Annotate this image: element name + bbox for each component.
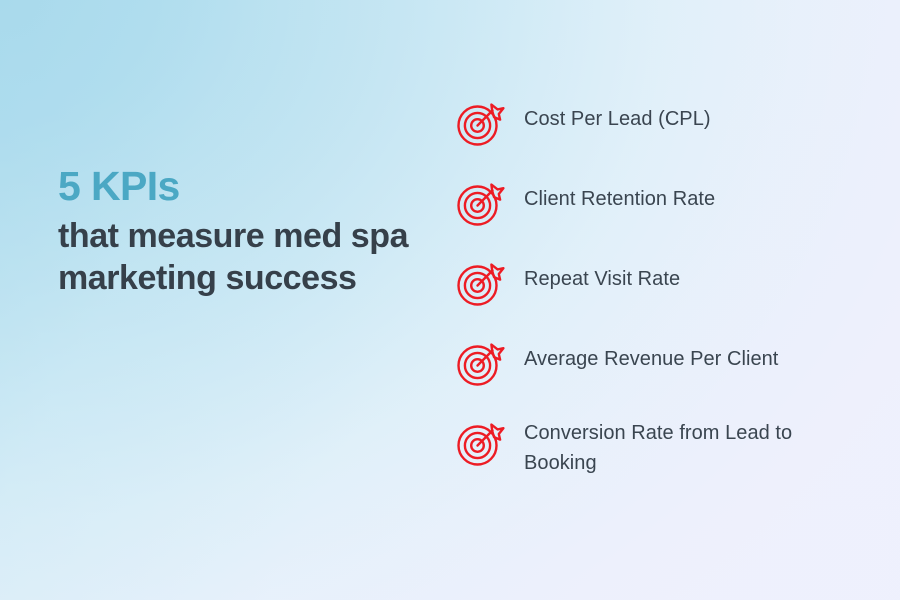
target-bullseye-dart-icon [456,336,506,388]
infographic-canvas: 5 KPIs that measure med spa marketing su… [0,0,900,600]
target-bullseye-dart-icon [456,96,506,148]
kpi-list-item: Average Revenue Per Client [456,336,856,392]
kpi-item-label: Conversion Rate from Lead to Booking [524,416,854,479]
target-bullseye-dart-icon [456,176,506,228]
target-bullseye-dart-icon [456,256,506,308]
kpi-item-label: Repeat Visit Rate [524,256,854,294]
kpi-list-item: Client Retention Rate [456,176,856,232]
kpi-list-item: Cost Per Lead (CPL) [456,96,856,152]
headline-accent-text: 5 KPIs [58,166,430,208]
headline-main-text: that measure med spa marketing success [58,215,430,299]
kpi-item-label: Cost Per Lead (CPL) [524,96,854,134]
target-bullseye-dart-icon [456,416,506,468]
headline-block: 5 KPIs that measure med spa marketing su… [58,166,430,299]
kpi-list: Cost Per Lead (CPL) Client Retention Rat… [456,96,856,479]
kpi-list-item: Repeat Visit Rate [456,256,856,312]
kpi-list-item: Conversion Rate from Lead to Booking [456,416,856,479]
kpi-item-label: Average Revenue Per Client [524,336,854,374]
kpi-item-label: Client Retention Rate [524,176,854,214]
